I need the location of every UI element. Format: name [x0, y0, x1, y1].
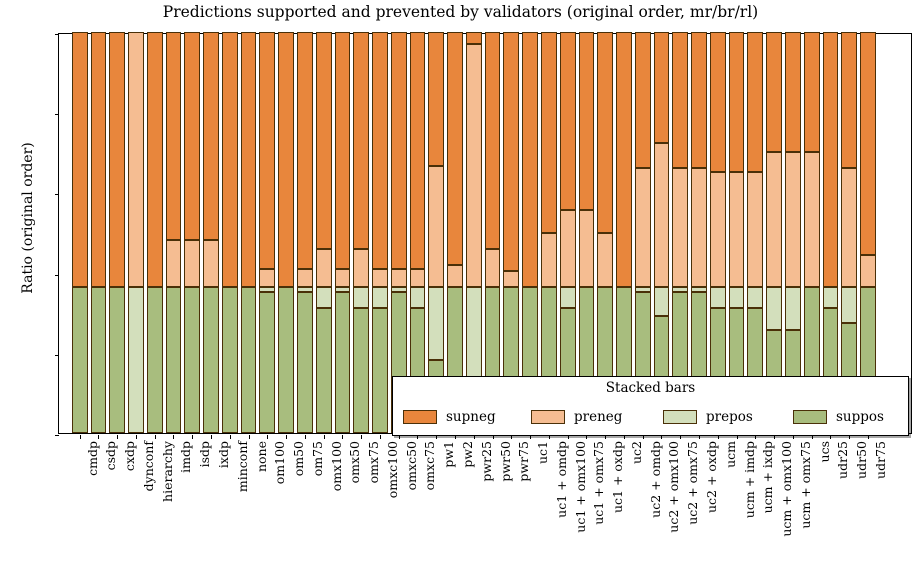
x-tick-label: ucm + ixdp — [760, 441, 775, 513]
legend-label: supneg — [446, 409, 496, 425]
x-tick-label: hierarchy — [160, 441, 175, 502]
bar-segment-suppos — [222, 287, 238, 433]
stacked-bar[interactable] — [447, 32, 463, 433]
x-tick-mark — [173, 435, 174, 439]
x-tick-label: cmdp — [85, 441, 100, 476]
x-tick-mark — [249, 435, 250, 439]
x-tick-label: omxc100 — [385, 441, 400, 498]
legend-swatch-suppos — [793, 410, 827, 424]
bar-segment-suppos — [259, 292, 275, 433]
bar-segment-supneg — [428, 32, 444, 166]
bar-segment-preneg — [166, 240, 182, 287]
x-tick-label: uc1 + omx100 — [573, 441, 588, 533]
bar-segment-prepos — [353, 287, 369, 308]
bar-segment-preneg — [747, 172, 763, 287]
bar-segment-preneg — [541, 233, 557, 287]
legend-label: prepos — [706, 409, 753, 425]
stacked-bar[interactable] — [785, 32, 801, 433]
bar-segment-supneg — [297, 32, 313, 269]
bar-segment-prepos — [841, 287, 857, 323]
stacked-bar[interactable] — [428, 32, 444, 433]
x-tick-mark — [80, 435, 81, 439]
chart-title: Predictions supported and prevented by v… — [0, 3, 921, 21]
bar-segment-preneg — [128, 32, 144, 287]
legend-label: suppos — [836, 409, 884, 425]
bar-segment-supneg — [278, 32, 294, 287]
bar-segment-suppos — [335, 292, 351, 433]
bar-segment-prepos — [428, 287, 444, 360]
x-tick-label: ucm + omx100 — [779, 441, 794, 537]
bar-segment-prepos — [297, 287, 313, 292]
bar-segment-prepos — [259, 287, 275, 292]
bar-segment-preneg — [597, 233, 613, 287]
x-tick-mark — [136, 435, 137, 439]
stacked-bar[interactable] — [710, 32, 726, 433]
bar-segment-preneg — [316, 249, 332, 287]
stacked-bar[interactable] — [560, 32, 576, 433]
stacked-bar[interactable] — [841, 32, 857, 433]
bar-segment-suppos — [241, 287, 257, 433]
bar-segment-suppos — [184, 287, 200, 433]
bar-segment-supneg — [691, 32, 707, 168]
bar-segment-preneg — [391, 269, 407, 287]
bar-segment-prepos — [672, 287, 688, 292]
legend-entry-prepos[interactable]: prepos — [663, 407, 753, 427]
x-tick-label: cxdp — [122, 441, 137, 471]
bar-segment-prepos — [635, 287, 651, 292]
bar-segment-preneg — [447, 265, 463, 287]
bar-segment-preneg — [710, 172, 726, 287]
bar-segment-supneg — [466, 32, 482, 44]
bar-segment-supneg — [579, 32, 595, 210]
y-tick-mark — [55, 194, 59, 195]
bar-segment-suppos — [166, 287, 182, 433]
y-axis-label: Ratio (original order) — [20, 38, 36, 398]
x-tick-label: uc1 + omx75 — [591, 441, 606, 525]
x-tick-label: pwr25 — [479, 441, 494, 482]
stacked-bar[interactable] — [860, 32, 876, 433]
legend-entry-preneg[interactable]: preneg — [531, 407, 622, 427]
x-tick-label: om75 — [310, 441, 325, 476]
stacked-bar[interactable] — [616, 32, 632, 433]
bar-segment-prepos — [654, 287, 670, 316]
x-tick-label: omxc75 — [422, 441, 437, 490]
x-tick-mark — [324, 435, 325, 439]
x-tick-mark — [155, 435, 156, 439]
bar-segment-supneg — [147, 32, 163, 287]
bar-segment-prepos — [785, 287, 801, 330]
legend-swatch-supneg — [403, 410, 437, 424]
bar-segment-preneg — [297, 269, 313, 287]
bar-segment-prepos — [766, 287, 782, 330]
stacked-bar[interactable] — [372, 32, 388, 433]
bar-segment-preneg — [785, 152, 801, 287]
bar-segment-prepos — [560, 287, 576, 308]
x-tick-label: uc1 + omdp — [554, 441, 569, 518]
x-tick-mark — [211, 435, 212, 439]
bar-segment-preneg — [466, 44, 482, 287]
x-tick-label: omxc50 — [404, 441, 419, 490]
x-tick-label: om50 — [291, 441, 306, 476]
bar-segment-prepos — [691, 287, 707, 292]
stacked-bar[interactable] — [485, 32, 501, 433]
x-tick-label: pw2 — [460, 441, 475, 468]
bar-segment-suppos — [278, 287, 294, 433]
stacked-bar[interactable] — [184, 32, 200, 433]
stacked-bar[interactable] — [391, 32, 407, 433]
bar-segment-suppos — [353, 308, 369, 434]
bar-segment-supneg — [353, 32, 369, 249]
stacked-bar[interactable] — [503, 32, 519, 433]
x-tick-label: udr25 — [835, 441, 850, 479]
x-tick-mark — [361, 435, 362, 439]
x-tick-label: uc2 + oxdp — [704, 441, 719, 513]
y-tick-mark — [55, 114, 59, 115]
bar-segment-prepos — [823, 287, 839, 308]
bar-segment-preneg — [804, 152, 820, 287]
x-tick-label: uc2 + omdp — [648, 441, 663, 518]
bar-segment-preneg — [860, 255, 876, 286]
stacked-bar[interactable] — [335, 32, 351, 433]
x-tick-label: dynconf — [141, 441, 156, 491]
stacked-bar[interactable] — [635, 32, 651, 433]
bar-segment-preneg — [654, 143, 670, 286]
x-tick-label: udr75 — [873, 441, 888, 479]
x-tick-label: ucm + omx75 — [798, 441, 813, 529]
bar-segment-preneg — [184, 240, 200, 287]
bar-segment-preneg — [259, 269, 275, 287]
bar-segment-supneg — [672, 32, 688, 168]
y-tick-mark — [55, 435, 59, 436]
bar-segment-supneg — [203, 32, 219, 240]
stacked-bar[interactable] — [729, 32, 745, 433]
x-tick-mark — [342, 435, 343, 439]
bar-segment-supneg — [391, 32, 407, 269]
bar-segment-preneg — [203, 240, 219, 287]
bar-segment-suppos — [72, 287, 88, 433]
plot-area: 0.00.20.40.60.81.0 cmdpcsdpcxdpdynconfhi… — [58, 33, 912, 434]
stacked-bar[interactable] — [128, 32, 144, 433]
bar-segment-preneg — [841, 168, 857, 287]
x-tick-label: minconf — [235, 441, 250, 492]
bar-segment-supneg — [241, 32, 257, 287]
stacked-bar[interactable] — [410, 32, 426, 433]
bar-segment-suppos — [109, 287, 125, 433]
stacked-bar[interactable] — [672, 32, 688, 433]
bar-segment-supneg — [109, 32, 125, 287]
bar-segment-supneg — [729, 32, 745, 172]
x-tick-label: uc1 — [535, 441, 550, 464]
bar-segment-suppos — [203, 287, 219, 433]
x-tick-mark — [286, 435, 287, 439]
bar-segment-supneg — [485, 32, 501, 249]
legend-entry-suppos[interactable]: suppos — [793, 407, 884, 427]
bar-segment-supneg — [541, 32, 557, 233]
bar-segment-supneg — [91, 32, 107, 287]
bar-segment-supneg — [841, 32, 857, 168]
chart-figure: Predictions supported and prevented by v… — [0, 0, 921, 562]
stacked-bar[interactable] — [203, 32, 219, 433]
x-tick-label: uc2 + omx100 — [666, 441, 681, 533]
stacked-bar[interactable] — [747, 32, 763, 433]
stacked-bar[interactable] — [691, 32, 707, 433]
bar-segment-prepos — [710, 287, 726, 308]
bar-segment-preneg — [428, 166, 444, 286]
bar-segment-preneg — [503, 271, 519, 287]
legend-title: Stacked bars — [393, 380, 908, 396]
bar-segment-supneg — [503, 32, 519, 271]
stacked-bar[interactable] — [222, 32, 238, 433]
bar-segment-suppos — [316, 308, 332, 434]
x-tick-label: ucs — [817, 441, 832, 462]
bar-segment-prepos — [410, 287, 426, 308]
x-tick-label: omx100 — [329, 441, 344, 491]
bar-segment-supneg — [747, 32, 763, 172]
stacked-bar[interactable] — [72, 32, 88, 433]
bar-segment-suppos — [297, 292, 313, 433]
bar-segment-suppos — [147, 287, 163, 433]
bar-segment-prepos — [391, 287, 407, 292]
bar-segment-prepos — [316, 287, 332, 308]
stacked-bar[interactable] — [597, 32, 613, 433]
y-tick-mark — [55, 355, 59, 356]
stacked-bar[interactable] — [823, 32, 839, 433]
bar-segment-preneg — [335, 269, 351, 287]
x-tick-mark — [267, 435, 268, 439]
bar-segment-supneg — [785, 32, 801, 151]
x-tick-label: ucm + imdp — [742, 441, 757, 518]
bar-segment-supneg — [166, 32, 182, 240]
bar-segment-suppos — [91, 287, 107, 433]
legend-swatch-prepos — [663, 410, 697, 424]
bar-segment-prepos — [729, 287, 745, 308]
x-tick-label: uc1 + oxdp — [610, 441, 625, 513]
bar-segment-supneg — [410, 32, 426, 269]
x-tick-mark — [230, 435, 231, 439]
x-tick-mark — [380, 435, 381, 439]
stacked-bar[interactable] — [109, 32, 125, 433]
bar-segment-prepos — [335, 287, 351, 292]
stacked-bar[interactable] — [166, 32, 182, 433]
x-tick-label: omx75 — [366, 441, 381, 483]
bar-segment-supneg — [654, 32, 670, 143]
stacked-bar[interactable] — [147, 32, 163, 433]
stacked-bar[interactable] — [297, 32, 313, 433]
x-tick-mark — [192, 435, 193, 439]
bar-segment-supneg — [259, 32, 275, 269]
x-tick-label: pwr50 — [498, 441, 513, 482]
x-tick-label: pwr75 — [516, 441, 531, 482]
bar-segment-supneg — [447, 32, 463, 265]
stacked-bar[interactable] — [278, 32, 294, 433]
bar-segment-supneg — [860, 32, 876, 255]
bar-segment-preneg — [691, 168, 707, 287]
legend-label: preneg — [574, 409, 622, 425]
bar-segment-preneg — [560, 210, 576, 287]
bar-segment-preneg — [353, 249, 369, 287]
y-tick-mark — [55, 275, 59, 276]
stacked-bar[interactable] — [259, 32, 275, 433]
legend-entry-supneg[interactable]: supneg — [403, 407, 496, 427]
bar-segment-prepos — [372, 287, 388, 308]
bar-segment-supneg — [710, 32, 726, 172]
x-tick-label: udr50 — [854, 441, 869, 479]
bar-segment-preneg — [766, 152, 782, 287]
stacked-bar[interactable] — [241, 32, 257, 433]
x-tick-label: uc2 + omx75 — [685, 441, 700, 525]
stacked-bar[interactable] — [766, 32, 782, 433]
bar-segment-preneg — [635, 168, 651, 287]
bar-segment-preneg — [579, 210, 595, 287]
bar-segment-supneg — [635, 32, 651, 168]
stacked-bar[interactable] — [316, 32, 332, 433]
bar-segment-preneg — [410, 269, 426, 287]
bar-segment-supneg — [823, 32, 839, 287]
legend: Stacked bars supnegprenegprepossuppos — [392, 376, 909, 436]
stacked-bar[interactable] — [654, 32, 670, 433]
bar-segment-supneg — [222, 32, 238, 287]
stacked-bar[interactable] — [353, 32, 369, 433]
bar-segment-supneg — [522, 32, 538, 287]
bar-segment-supneg — [766, 32, 782, 151]
x-tick-label: imdp — [178, 441, 193, 473]
x-tick-label: om100 — [272, 441, 287, 484]
x-tick-label: omx50 — [347, 441, 362, 483]
stacked-bar[interactable] — [522, 32, 538, 433]
stacked-bar[interactable] — [804, 32, 820, 433]
bar-segment-supneg — [597, 32, 613, 233]
x-tick-label: uc2 — [629, 441, 644, 464]
bar-segment-supneg — [316, 32, 332, 249]
stacked-bar[interactable] — [579, 32, 595, 433]
x-tick-mark — [305, 435, 306, 439]
x-tick-label: isdp — [197, 441, 212, 467]
x-tick-mark — [98, 435, 99, 439]
x-tick-label: pw1 — [441, 441, 456, 468]
y-tick-mark — [55, 34, 59, 35]
bar-segment-preneg — [372, 269, 388, 287]
bar-segment-prepos — [747, 287, 763, 308]
x-tick-mark — [117, 435, 118, 439]
bar-segment-preneg — [729, 172, 745, 287]
bar-segment-supneg — [560, 32, 576, 210]
bar-segment-supneg — [804, 32, 820, 151]
x-tick-label: ucm — [723, 441, 738, 468]
bar-segment-prepos — [128, 287, 144, 433]
bar-segment-supneg — [72, 32, 88, 287]
x-tick-label: csdp — [103, 441, 118, 470]
x-tick-label: ixdp — [216, 441, 231, 468]
stacked-bar[interactable] — [541, 32, 557, 433]
stacked-bar[interactable] — [91, 32, 107, 433]
legend-swatch-preneg — [531, 410, 565, 424]
bar-segment-preneg — [672, 168, 688, 287]
bar-segment-supneg — [184, 32, 200, 240]
stacked-bar[interactable] — [466, 32, 482, 433]
bar-segment-supneg — [335, 32, 351, 269]
x-tick-label: none — [254, 441, 269, 472]
bar-segment-supneg — [616, 32, 632, 287]
bar-segment-preneg — [485, 249, 501, 287]
bar-segment-supneg — [372, 32, 388, 269]
bar-segment-suppos — [372, 308, 388, 434]
